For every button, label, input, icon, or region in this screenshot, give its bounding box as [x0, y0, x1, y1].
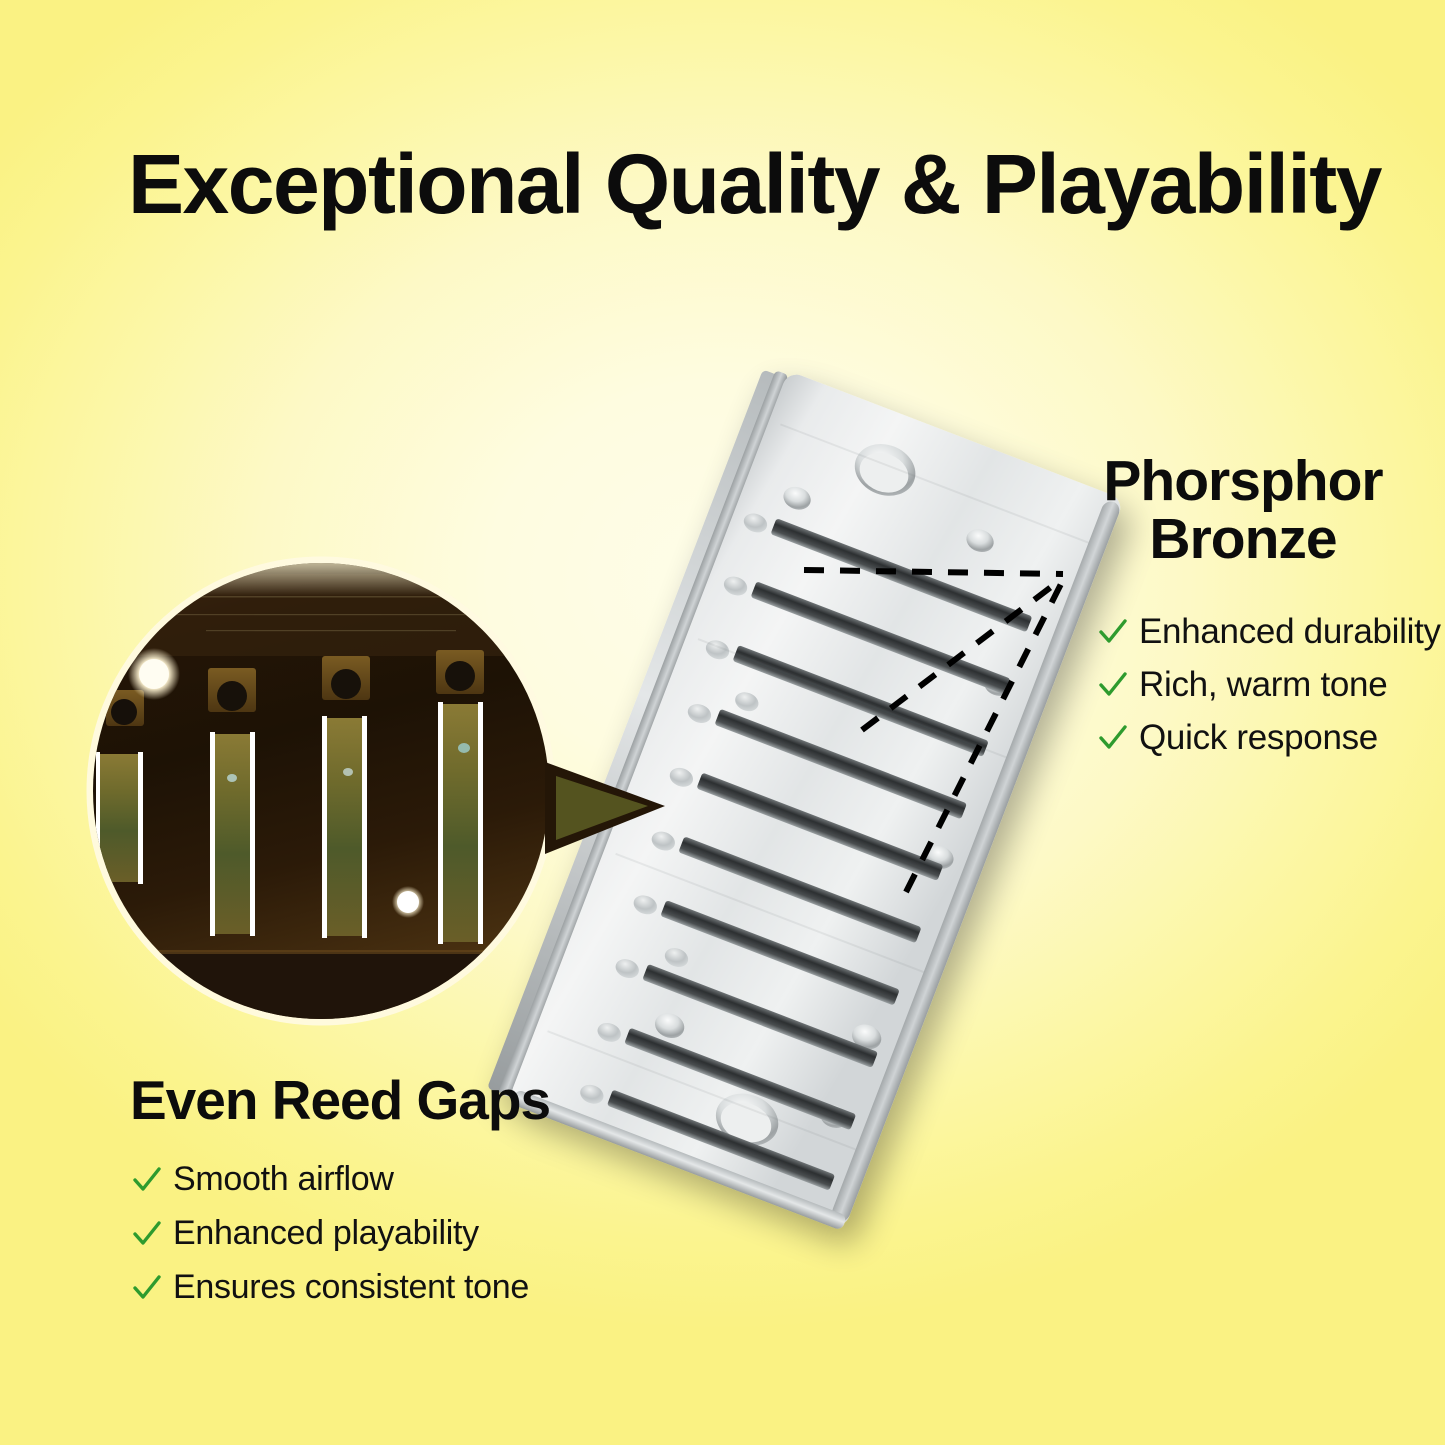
check-icon	[1098, 617, 1128, 647]
check-icon	[132, 1273, 162, 1303]
bullet-list-even-reed-gaps: Smooth airflow Enhanced playability Ensu…	[132, 1160, 529, 1322]
magnifier-wedge	[545, 762, 665, 854]
list-item: Rich, warm tone	[1098, 665, 1441, 705]
check-icon	[132, 1165, 162, 1195]
list-item: Quick response	[1098, 718, 1441, 758]
reed-gap-closeup-inset	[86, 556, 556, 1026]
list-item-label: Rich, warm tone	[1139, 665, 1387, 705]
leader-line-3	[906, 580, 1063, 892]
list-item: Ensures consistent tone	[132, 1268, 529, 1307]
section-heading-phosphor-bronze: Phorsphor Bronze	[1078, 452, 1408, 568]
list-item-label: Enhanced playability	[173, 1214, 479, 1253]
check-icon	[1098, 723, 1128, 753]
section-heading-even-reed-gaps: Even Reed Gaps	[130, 1072, 550, 1128]
check-icon	[132, 1219, 162, 1249]
list-item-label: Quick response	[1139, 718, 1378, 758]
list-item-label: Smooth airflow	[173, 1160, 394, 1199]
list-item-label: Enhanced durability	[1139, 612, 1441, 652]
reed-gap-closeup-graphic	[86, 556, 556, 1026]
list-item: Smooth airflow	[132, 1160, 529, 1199]
leader-line-2	[862, 578, 1063, 730]
magnifier-wedge-inner	[556, 776, 648, 840]
list-item: Enhanced playability	[132, 1214, 529, 1253]
check-icon	[1098, 670, 1128, 700]
leader-line-1	[804, 570, 1063, 574]
list-item-label: Ensures consistent tone	[173, 1268, 529, 1307]
page-title: Exceptional Quality & Playability	[128, 142, 1328, 226]
list-item: Enhanced durability	[1098, 612, 1441, 652]
bullet-list-phosphor-bronze: Enhanced durability Rich, warm tone Quic…	[1098, 612, 1441, 771]
product-infographic: Exceptional Quality & Playability	[0, 0, 1445, 1445]
